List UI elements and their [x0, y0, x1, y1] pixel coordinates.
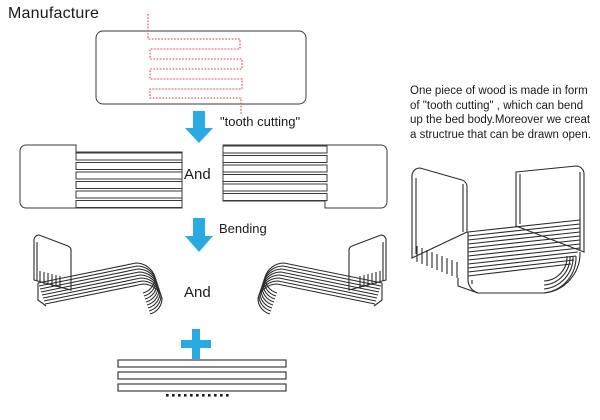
strip-group [118, 360, 286, 391]
bent-left-geometry [34, 235, 162, 314]
manufacture-diagram: Manufacture One piece of wood is made in… [0, 0, 600, 420]
down-arrow-icon [185, 111, 213, 143]
strips-ellipsis [166, 390, 236, 402]
description-paragraph: One piece of wood is made in form of "to… [410, 84, 596, 142]
board-outline [96, 31, 306, 104]
page-title: Manufacture [8, 5, 99, 23]
label-tooth-cutting: "tooth cutting" [220, 114, 300, 129]
bent-right-geometry [258, 235, 386, 314]
and-label-1: And [184, 166, 211, 183]
toothed-half-right [215, 140, 395, 216]
toothed-half-left [14, 140, 190, 216]
finished-bed-frame-figure [394, 162, 600, 320]
bent-half-left [18, 228, 198, 328]
plus-icon [181, 329, 211, 359]
bent-half-right [222, 228, 402, 328]
arrow-tooth-cutting [182, 110, 216, 144]
plus-connector [179, 327, 213, 361]
and-label-2: And [184, 284, 211, 301]
bed-frame-geometry [412, 166, 584, 293]
blank-board-figure [88, 14, 314, 114]
